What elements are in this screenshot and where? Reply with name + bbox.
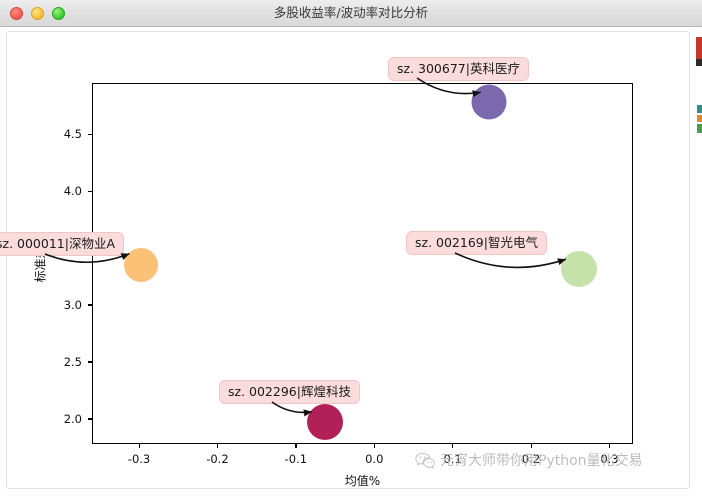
x-tick-mark — [295, 444, 296, 448]
y-tick-mark — [88, 361, 92, 362]
y-tick-label: 4.5 — [48, 127, 82, 141]
app-window: 多股收益率/波动率对比分析 -0.3-0.2-0.10.00.10.20.32.… — [0, 0, 702, 502]
point-annotation-label: sz. 300677|英科医疗 — [388, 57, 529, 81]
y-tick-mark — [88, 191, 92, 192]
window-titlebar: 多股收益率/波动率对比分析 — [0, 0, 702, 27]
edge-fragment-teal — [697, 105, 702, 113]
scatter-bubble[interactable] — [561, 251, 597, 287]
x-tick-label: 0.0 — [365, 452, 383, 466]
point-annotation-label: sz. 002296|辉煌科技 — [219, 380, 360, 404]
edge-fragment-orange — [697, 115, 702, 122]
scatter-bubble[interactable] — [307, 404, 343, 440]
x-tick-mark — [217, 444, 218, 448]
x-axis-label: 均值% — [345, 472, 380, 489]
edge-fragment-green — [697, 124, 702, 133]
x-tick-mark — [531, 444, 532, 448]
scatter-bubble[interactable] — [124, 248, 158, 282]
x-tick-label: -0.3 — [128, 452, 150, 466]
x-tick-mark — [609, 444, 610, 448]
watermark: 元宵大师带你用Python量化交易 — [415, 450, 643, 470]
window-title: 多股收益率/波动率对比分析 — [0, 0, 702, 26]
figure-canvas: -0.3-0.2-0.10.00.10.20.32.02.53.03.54.04… — [0, 27, 702, 502]
y-tick-label: 3.0 — [48, 298, 82, 312]
x-tick-mark — [374, 444, 375, 448]
y-tick-mark — [88, 134, 92, 135]
x-tick-mark — [452, 444, 453, 448]
wechat-icon — [415, 452, 435, 469]
point-annotation-label: sz. 002169|智光电气 — [406, 231, 547, 255]
y-tick-mark — [88, 304, 92, 305]
point-annotation-label: sz. 000011|深物业A — [0, 232, 124, 256]
x-tick-label: -0.1 — [285, 452, 307, 466]
watermark-text: 元宵大师带你用Python量化交易 — [440, 450, 643, 470]
y-tick-label: 2.0 — [48, 412, 82, 426]
edge-fragment-dark — [696, 59, 702, 66]
edge-fragment-red — [696, 37, 702, 59]
y-tick-mark — [88, 418, 92, 419]
x-tick-label: -0.2 — [206, 452, 228, 466]
x-tick-mark — [139, 444, 140, 448]
y-tick-label: 2.5 — [48, 355, 82, 369]
y-tick-label: 4.0 — [48, 184, 82, 198]
scatter-bubble[interactable] — [471, 85, 506, 120]
plot-axes-frame — [92, 83, 633, 444]
matplotlib-figure: -0.3-0.2-0.10.00.10.20.32.02.53.03.54.04… — [6, 31, 690, 489]
